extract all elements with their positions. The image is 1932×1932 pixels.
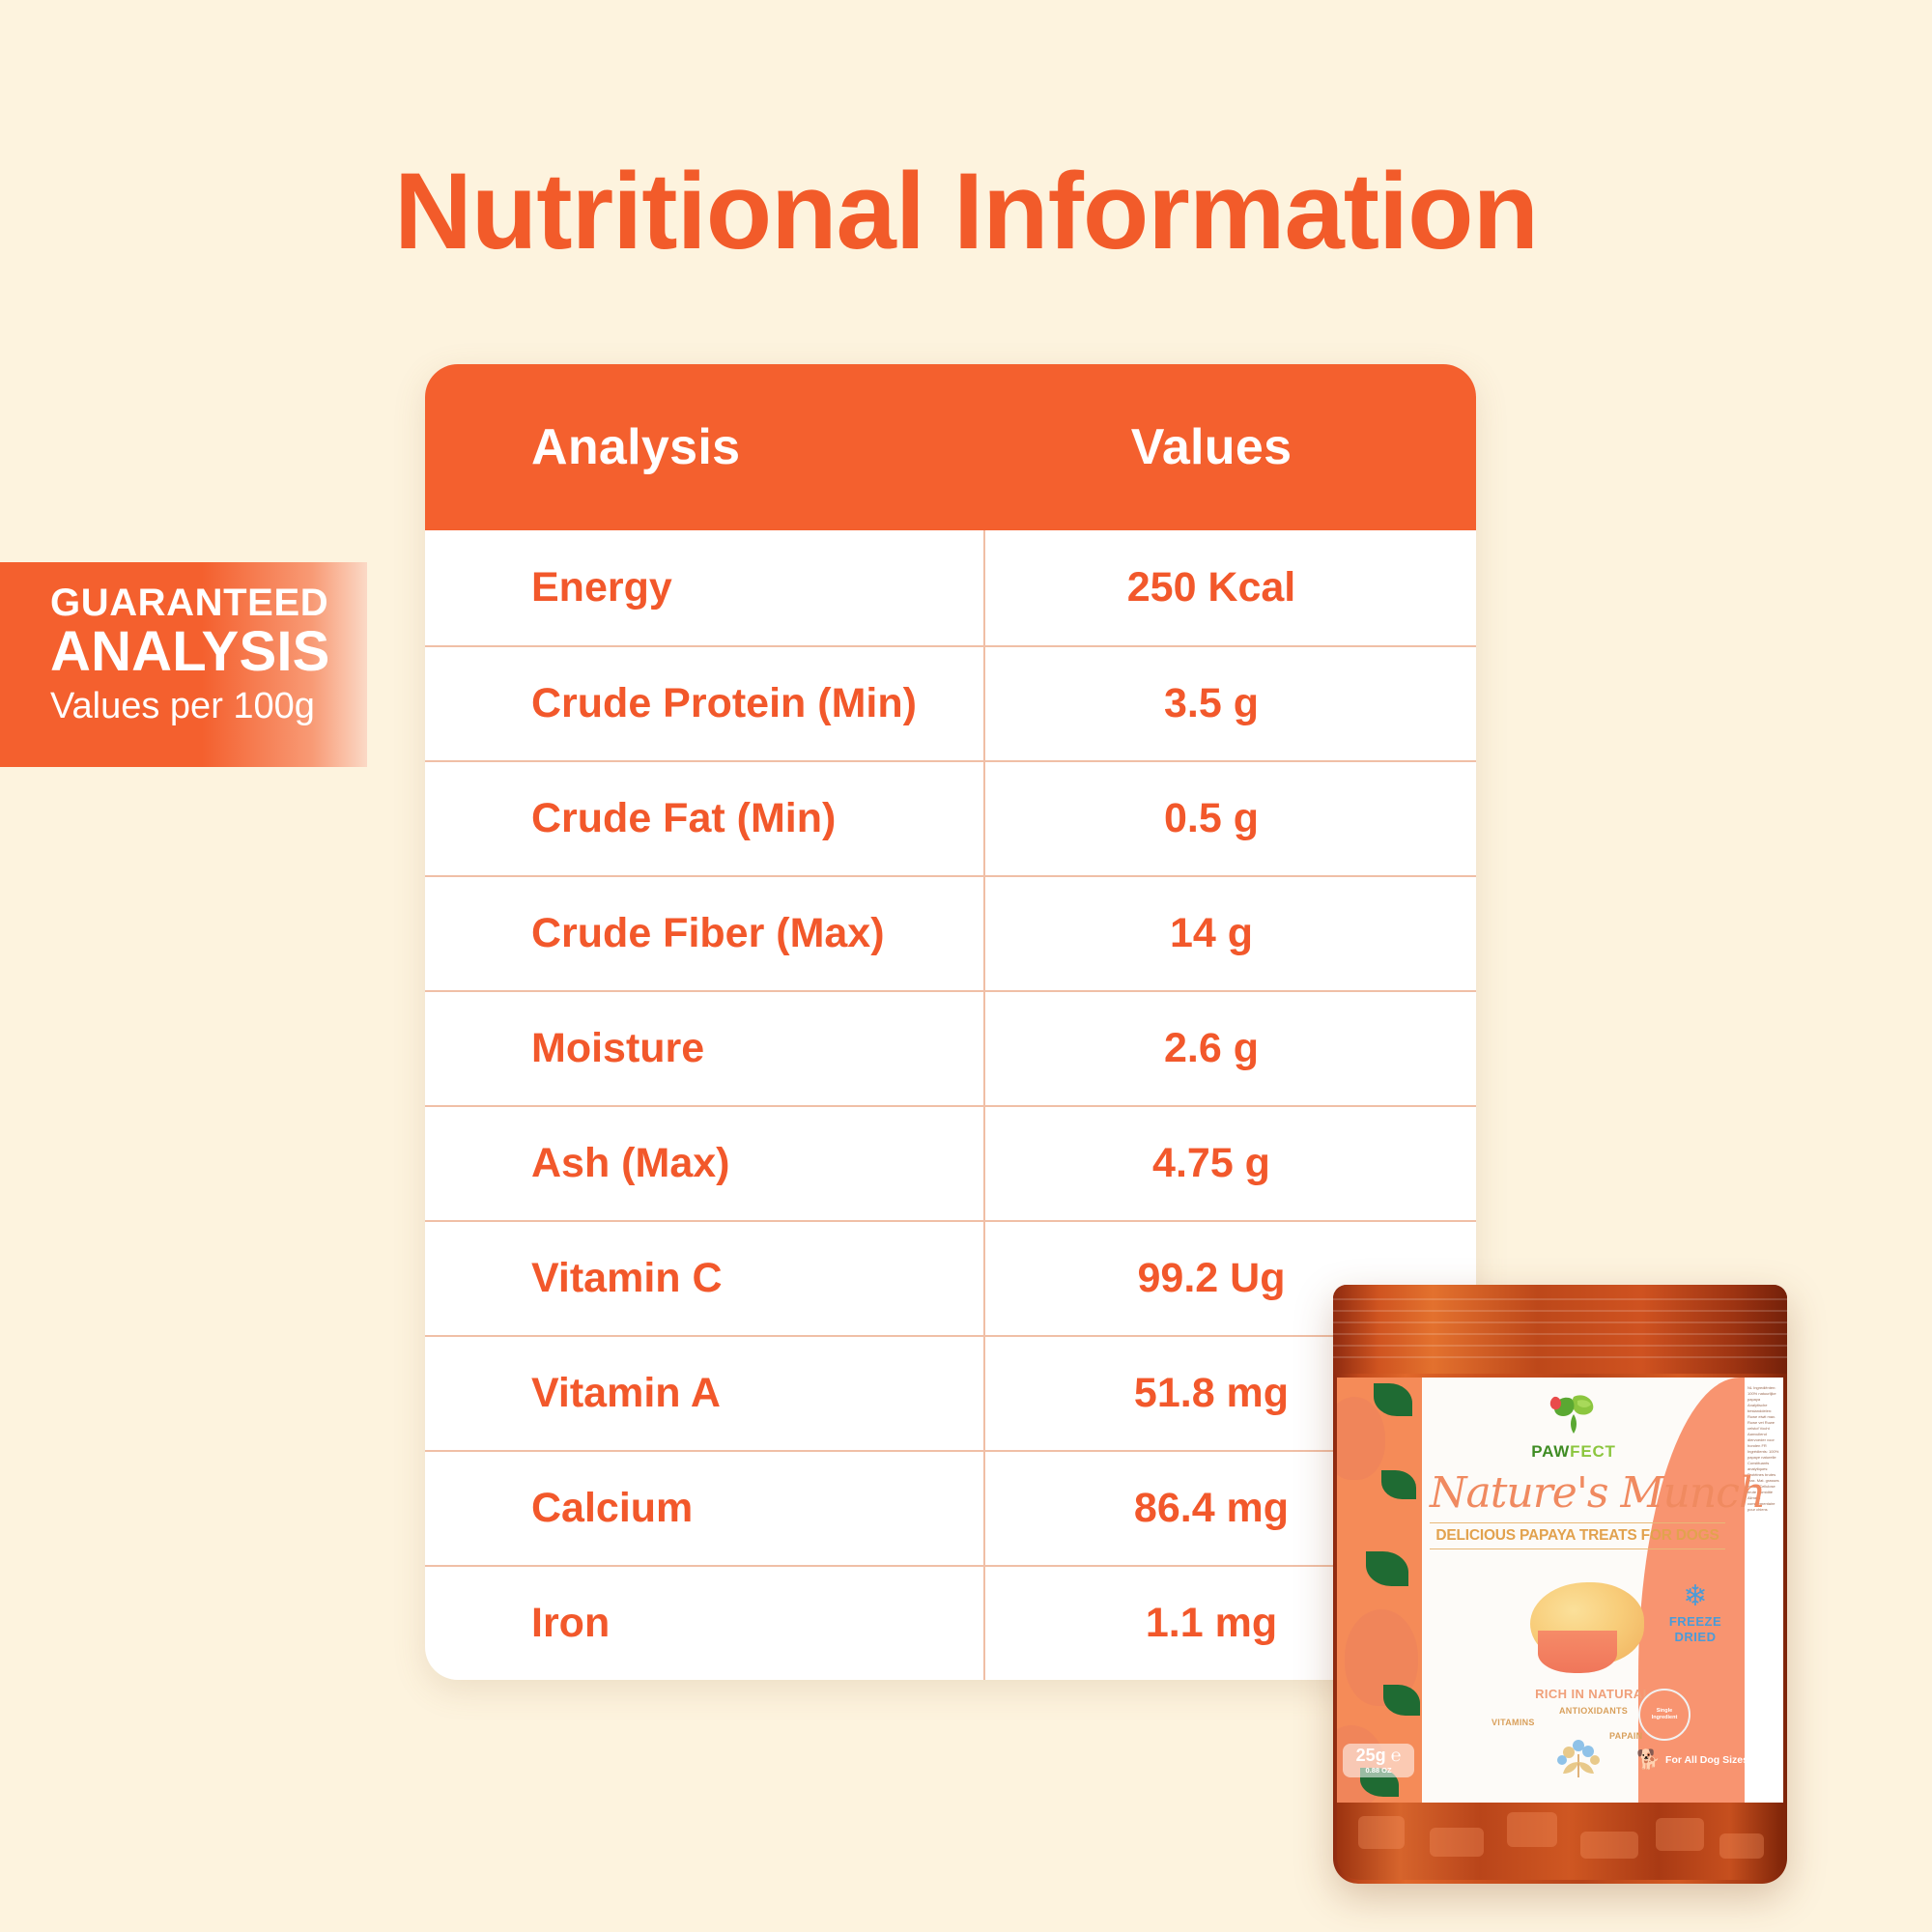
badge-line-analysis: ANALYSIS (50, 624, 342, 680)
jar-body: NL Ingrediënten: 100% natuurlijke papaya… (1333, 1285, 1787, 1884)
table-cell-analysis: Crude Protein (Min) (425, 647, 985, 760)
table-cell-value: 2.6 g (985, 1025, 1476, 1072)
page-title: Nutritional Information (0, 155, 1932, 269)
table-row: Vitamin A51.8 mg (425, 1335, 1476, 1450)
jar-contents-treats (1337, 1803, 1783, 1880)
jar-lid (1333, 1285, 1787, 1374)
net-weight-ounces: 0.88 OZ (1347, 1766, 1410, 1775)
papaya-cut-slice-image (1538, 1631, 1617, 1673)
papaya-leaf-artwork-left (1337, 1378, 1422, 1803)
table-row: Energy250 Kcal (425, 530, 1476, 645)
freeze-dried-label: FREEZE DRIED (1658, 1614, 1733, 1646)
table-cell-analysis: Iron (425, 1567, 985, 1680)
table-cell-value: 4.75 g (985, 1140, 1476, 1187)
freeze-line-1: FREEZE (1669, 1614, 1721, 1629)
table-cell-analysis: Calcium (425, 1452, 985, 1565)
net-weight-badge: 25g ℮ 0.88 OZ (1343, 1744, 1414, 1777)
badge-line-values-per: Values per 100g (50, 688, 342, 724)
net-weight-grams: 25g ℮ (1347, 1747, 1410, 1764)
table-row: Ash (Max)4.75 g (425, 1105, 1476, 1220)
claim-papain: PAPAIN (1609, 1731, 1642, 1741)
nutrition-table-card: Analysis Values Energy250 KcalCrude Prot… (425, 364, 1476, 1680)
claim-vitamins: VITAMINS (1492, 1718, 1535, 1727)
table-cell-value: 0.5 g (985, 795, 1476, 842)
single-ingredient-seal: Single Ingredient (1638, 1689, 1690, 1741)
table-row: Iron1.1 mg (425, 1565, 1476, 1680)
brand-logo: PAWFECT (1453, 1391, 1694, 1462)
table-row: Crude Fiber (Max)14 g (425, 875, 1476, 990)
table-cell-analysis: Moisture (425, 992, 985, 1105)
table-row: Vitamin C99.2 Ug (425, 1220, 1476, 1335)
brand-name-paw: PAW (1531, 1442, 1570, 1461)
dog-sizes-row: 🐕 For All Dog Sizes (1636, 1750, 1748, 1770)
claim-antioxidants: ANTIOXIDANTS (1559, 1706, 1628, 1716)
table-row: Crude Fat (Min)0.5 g (425, 760, 1476, 875)
jar-label: NL Ingrediënten: 100% natuurlijke papaya… (1337, 1378, 1783, 1803)
table-cell-analysis: Energy (425, 530, 985, 645)
badge-line-guaranteed: GUARANTEED (50, 583, 342, 622)
product-jar-image: NL Ingrediënten: 100% natuurlijke papaya… (1333, 1285, 1787, 1884)
table-cell-analysis: Ash (Max) (425, 1107, 985, 1220)
leaf-dog-logo-icon (1543, 1391, 1605, 1437)
table-cell-value: 250 Kcal (985, 564, 1476, 611)
table-cell-value: 3.5 g (985, 680, 1476, 727)
table-cell-value: 14 g (985, 910, 1476, 957)
table-row: Calcium86.4 mg (425, 1450, 1476, 1565)
brand-name: PAWFECT (1453, 1442, 1694, 1462)
dog-icon: 🐕 (1636, 1750, 1661, 1770)
freeze-dried-badge: ❄ FREEZE DRIED (1658, 1582, 1733, 1646)
product-tagline: DELICIOUS PAPAYA TREATS FOR DOGS (1430, 1522, 1725, 1549)
product-name: Nature's Munch (1430, 1468, 1719, 1518)
column-header-analysis: Analysis (425, 418, 985, 476)
ingredients-side-panel: NL Ingrediënten: 100% natuurlijke papaya… (1745, 1378, 1783, 1803)
dog-sizes-label: For All Dog Sizes (1665, 1754, 1748, 1766)
table-body: Energy250 KcalCrude Protein (Min)3.5 gCr… (425, 530, 1476, 1680)
column-header-values: Values (985, 418, 1476, 476)
brand-name-fect: FECT (1570, 1442, 1616, 1461)
table-cell-analysis: Vitamin C (425, 1222, 985, 1335)
table-row: Moisture2.6 g (425, 990, 1476, 1105)
table-row: Crude Protein (Min)3.5 g (425, 645, 1476, 760)
table-cell-analysis: Crude Fiber (Max) (425, 877, 985, 990)
snowflake-icon: ❄ (1658, 1582, 1733, 1611)
freeze-line-2: DRIED (1675, 1630, 1717, 1644)
guaranteed-analysis-badge: GUARANTEED ANALYSIS Values per 100g (0, 562, 367, 767)
table-cell-analysis: Crude Fat (Min) (425, 762, 985, 875)
table-cell-analysis: Vitamin A (425, 1337, 985, 1450)
sprig-plant-icon (1548, 1737, 1609, 1777)
table-header-row: Analysis Values (425, 364, 1476, 530)
